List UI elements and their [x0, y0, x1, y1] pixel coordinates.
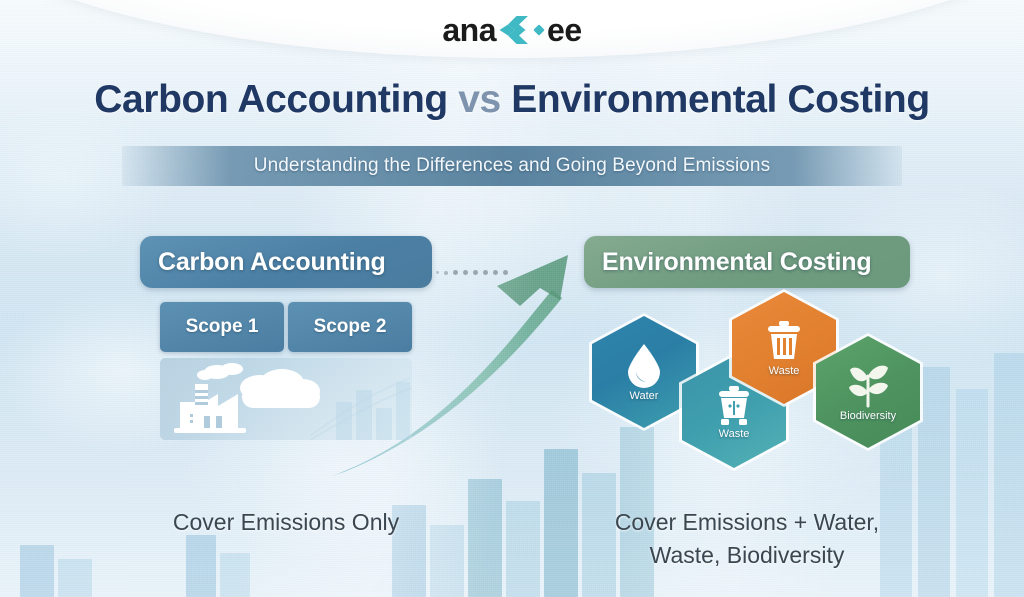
leaves-icon [844, 362, 892, 408]
logo-dot-icon [533, 24, 544, 35]
carbon-accounting-card: Carbon Accounting Scope 1 Scope 2 [140, 236, 432, 288]
co2-subscript: 2 [293, 395, 302, 412]
hexagon-water-label: Water [630, 390, 659, 402]
title-vs-separator: vs [458, 78, 501, 121]
left-caption: Cover Emissions Only [140, 506, 432, 539]
environmental-costing-header: Environmental Costing [584, 236, 910, 288]
co2-label: CO [252, 381, 290, 409]
logo-text-before: ana [442, 14, 496, 46]
right-caption: Cover Emissions + Water, Waste, Biodiver… [584, 506, 910, 571]
subtitle-text: Understanding the Differences and Going … [254, 155, 770, 177]
right-caption-line-1: Cover Emissions + Water, [584, 506, 910, 539]
infographic-canvas: ana ee Carbon Accounting vs Environmenta… [0, 0, 1024, 597]
background-bar [430, 525, 464, 597]
background-bar [544, 449, 578, 597]
scope-2-label: Scope 2 [314, 316, 387, 338]
epsilon-mark-icon [497, 12, 531, 48]
background-bar [220, 553, 250, 597]
background-bar [468, 479, 502, 597]
title-part-one: Carbon Accounting [94, 78, 448, 121]
hexagon-waste-bin-label: Waste [719, 428, 750, 440]
factory-co2-icon: CO 2 [160, 358, 412, 440]
scope-1-label: Scope 1 [186, 316, 259, 338]
background-bar [506, 501, 540, 597]
logo-text-after: ee [547, 14, 582, 46]
impact-hexagon-group: Water [584, 298, 924, 468]
hexagon-biodiversity[interactable]: Biodiversity [816, 336, 920, 448]
carbon-accounting-header-label: Carbon Accounting [158, 248, 386, 277]
flow-connector [430, 258, 590, 294]
environmental-costing-header-label: Environmental Costing [602, 248, 871, 277]
title-part-two: Environmental Costing [511, 78, 929, 121]
emissions-illustration-panel: CO 2 [160, 358, 412, 440]
left-caption-text: Cover Emissions Only [173, 509, 399, 535]
scope-1-pill[interactable]: Scope 1 [160, 302, 284, 352]
background-bar [994, 353, 1024, 597]
page-title: Carbon Accounting vs Environmental Costi… [0, 78, 1024, 122]
water-drop-icon [624, 342, 664, 388]
right-caption-line-2: Waste, Biodiversity [584, 539, 910, 572]
hexagon-waste-trash-label: Waste [769, 365, 800, 377]
background-bar [20, 545, 54, 597]
scope-2-pill[interactable]: Scope 2 [288, 302, 412, 352]
background-bar [58, 559, 92, 597]
background-bar [186, 535, 216, 597]
subtitle-band: Understanding the Differences and Going … [122, 146, 902, 186]
trash-can-icon [763, 319, 805, 363]
dotted-line-icon [436, 270, 508, 275]
hexagon-biodiversity-label: Biodiversity [840, 410, 896, 422]
carbon-accounting-header: Carbon Accounting [140, 236, 432, 288]
brand-logo[interactable]: ana ee [0, 6, 1024, 54]
scope-pill-group: Scope 1 Scope 2 [160, 302, 412, 352]
environmental-costing-card: Environmental Costing Water [584, 236, 910, 288]
background-bar [956, 389, 988, 597]
